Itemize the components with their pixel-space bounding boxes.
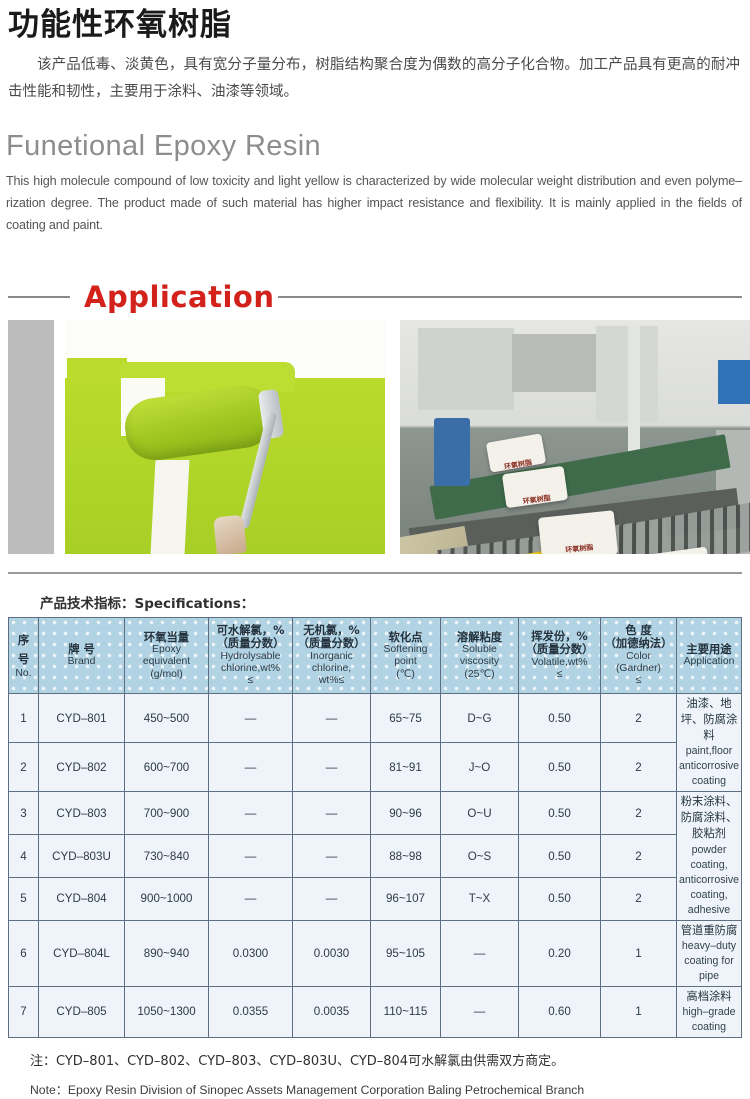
col-header-en: Color (Gardner) ≤: [602, 651, 675, 688]
cell-application: 油漆、地坪、防腐涂料paint,floor anticorrosive coat…: [677, 694, 742, 792]
application-en: heavy–duty coating for pipe: [679, 939, 739, 984]
cell-viscosity: J~O: [441, 743, 519, 792]
factory-conveyor-photo: 环氧树脂 环氧树脂 环氧树脂 环氧树脂: [400, 320, 750, 554]
col-header-cn: 可水解氯，% （质量分数）: [210, 624, 291, 651]
cell-epoxy: 730~840: [125, 835, 209, 878]
spec-table-label: 产品技术指标：Specifications：: [40, 592, 750, 612]
cell-brand: CYD–802: [39, 743, 125, 792]
cell-viscosity: O~U: [441, 792, 519, 835]
application-heading: Application: [70, 283, 278, 312]
cell-hydrolysable: —: [209, 835, 293, 878]
cell-hydrolysable: 0.0300: [209, 920, 293, 986]
col-header-cn: 挥发份，% （质量分数）: [520, 630, 599, 657]
cell-inorganic: —: [293, 694, 371, 743]
rule-left: [8, 296, 70, 298]
col-header-3: 可水解氯，% （质量分数）Hydrolysable chlorine,wt% ≤: [209, 618, 293, 694]
cell-softening: 95~105: [371, 920, 441, 986]
col-header-cn: 主要用途: [678, 643, 740, 656]
gray-accent-bar: [8, 320, 54, 554]
application-cn: 粉末涂料、防腐涂料、 胶粘剂: [679, 794, 739, 842]
application-cn: 油漆、地坪、防腐涂料: [679, 696, 739, 744]
rule-right: [278, 296, 742, 298]
cell-application: 高档涂料high–grade coating: [677, 986, 742, 1037]
cell-epoxy: 900~1000: [125, 877, 209, 920]
note-en: Note：Epoxy Resin Division of Sinopec Ass…: [30, 1081, 742, 1099]
col-header-en: Application: [678, 656, 740, 668]
col-header-cn: 序 号: [18, 634, 29, 666]
specifications-table: 序 号No.牌 号Brand环氧当量Epoxy equivalent (g/mo…: [8, 617, 742, 1038]
cell-epoxy: 1050~1300: [125, 986, 209, 1037]
cell-brand: CYD–803: [39, 792, 125, 835]
cell-softening: 65~75: [371, 694, 441, 743]
cell-color: 2: [601, 877, 677, 920]
cell-volatile: 0.50: [519, 792, 601, 835]
cell-inorganic: 0.0035: [293, 986, 371, 1037]
col-header-cn: 牌 号: [40, 643, 123, 656]
col-header-en: Inorganic chlorine, wt%≤: [294, 651, 369, 688]
note-cn: 注：CYD–801、CYD–802、CYD–803、CYD–803U、CYD–8…: [30, 1052, 742, 1073]
cell-epoxy: 600~700: [125, 743, 209, 792]
section-divider: [8, 572, 742, 574]
cell-viscosity: —: [441, 986, 519, 1037]
cell-hydrolysable: 0.0355: [209, 986, 293, 1037]
intro-paragraph-cn: 该产品低毒、淡黄色，具有宽分子量分布，树脂结构聚合度为偶数的高分子化合物。加工产…: [8, 52, 740, 106]
cell-application: 粉末涂料、防腐涂料、 胶粘剂powder coating, anticorros…: [677, 792, 742, 920]
cell-viscosity: T~X: [441, 877, 519, 920]
cell-viscosity: —: [441, 920, 519, 986]
col-header-cn: 无机氯，% （质量分数）: [294, 624, 369, 651]
cell-softening: 88~98: [371, 835, 441, 878]
cell-no: 4: [9, 835, 39, 878]
table-row: 3CYD–803700~900——90~96O~U0.502粉末涂料、防腐涂料、…: [9, 792, 742, 835]
page-title-cn: 功能性环氧树脂: [8, 6, 750, 45]
table-notes: 注：CYD–801、CYD–802、CYD–803、CYD–803U、CYD–8…: [8, 1052, 742, 1099]
product-datasheet-page: 功能性环氧树脂 该产品低毒、淡黄色，具有宽分子量分布，树脂结构聚合度为偶数的高分…: [0, 6, 750, 1030]
application-heading-band: Application: [0, 280, 750, 314]
col-header-en: No.: [10, 668, 37, 680]
cell-softening: 96~107: [371, 877, 441, 920]
application-en: powder coating, anticorrosive coating, a…: [679, 843, 739, 918]
table-row: 4CYD–803U730~840——88~98O~S0.502: [9, 835, 742, 878]
cell-color: 2: [601, 694, 677, 743]
table-header-row: 序 号No.牌 号Brand环氧当量Epoxy equivalent (g/mo…: [9, 618, 742, 694]
cell-no: 2: [9, 743, 39, 792]
cell-hydrolysable: —: [209, 792, 293, 835]
col-header-5: 软化点Softening point (℃): [371, 618, 441, 694]
cell-volatile: 0.50: [519, 877, 601, 920]
cell-no: 3: [9, 792, 39, 835]
cell-epoxy: 450~500: [125, 694, 209, 743]
cell-softening: 90~96: [371, 792, 441, 835]
intro-paragraph-en: This high molecule compound of low toxic…: [6, 171, 742, 236]
application-cn: 管道重防腐: [679, 923, 739, 939]
col-header-4: 无机氯，% （质量分数）Inorganic chlorine, wt%≤: [293, 618, 371, 694]
table-row: 2CYD–802600~700——81~91J~O0.502: [9, 743, 742, 792]
cell-no: 7: [9, 986, 39, 1037]
cell-inorganic: —: [293, 835, 371, 878]
cell-color: 1: [601, 986, 677, 1037]
application-en: paint,floor anticorrosive coating: [679, 744, 739, 789]
cell-brand: CYD–803U: [39, 835, 125, 878]
col-header-8: 色 度 （加德纳法）Color (Gardner) ≤: [601, 618, 677, 694]
col-header-0: 序 号No.: [9, 618, 39, 694]
col-header-cn: 软化点: [372, 631, 439, 644]
table-row: 1CYD–801450~500——65~75D~G0.502油漆、地坪、防腐涂料…: [9, 694, 742, 743]
cell-softening: 81~91: [371, 743, 441, 792]
cell-color: 2: [601, 835, 677, 878]
cell-hydrolysable: —: [209, 743, 293, 792]
col-header-cn: 色 度 （加德纳法）: [602, 624, 675, 651]
cell-hydrolysable: —: [209, 877, 293, 920]
col-header-en: Soluble viscosity (25℃): [442, 644, 517, 681]
cell-epoxy: 890~940: [125, 920, 209, 986]
table-header: 序 号No.牌 号Brand环氧当量Epoxy equivalent (g/mo…: [9, 618, 742, 694]
col-header-9: 主要用途Application: [677, 618, 742, 694]
col-header-en: Brand: [40, 656, 123, 668]
cell-viscosity: D~G: [441, 694, 519, 743]
cell-volatile: 0.20: [519, 920, 601, 986]
col-header-en: Softening point (℃): [372, 644, 439, 681]
cell-brand: CYD–805: [39, 986, 125, 1037]
cell-brand: CYD–801: [39, 694, 125, 743]
paint-roller-photo: [65, 320, 385, 554]
cell-inorganic: —: [293, 792, 371, 835]
cell-brand: CYD–804L: [39, 920, 125, 986]
col-header-en: Epoxy equivalent (g/mol): [126, 644, 207, 681]
col-header-en: Volatile,wt% ≤: [520, 657, 599, 682]
cell-no: 5: [9, 877, 39, 920]
cell-volatile: 0.50: [519, 835, 601, 878]
table-row: 6CYD–804L890~9400.03000.003095~105—0.201…: [9, 920, 742, 986]
cell-brand: CYD–804: [39, 877, 125, 920]
cell-volatile: 0.50: [519, 694, 601, 743]
col-header-7: 挥发份，% （质量分数）Volatile,wt% ≤: [519, 618, 601, 694]
col-header-1: 牌 号Brand: [39, 618, 125, 694]
cell-color: 1: [601, 920, 677, 986]
col-header-6: 溶解粘度Soluble viscosity (25℃): [441, 618, 519, 694]
col-header-en: Hydrolysable chlorine,wt% ≤: [210, 651, 291, 688]
cell-no: 1: [9, 694, 39, 743]
application-en: high–grade coating: [679, 1005, 739, 1035]
cell-softening: 110~115: [371, 986, 441, 1037]
table-body: 1CYD–801450~500——65~75D~G0.502油漆、地坪、防腐涂料…: [9, 694, 742, 1038]
cell-viscosity: O~S: [441, 835, 519, 878]
application-images: 环氧树脂 环氧树脂 环氧树脂 环氧树脂: [0, 320, 750, 558]
cell-epoxy: 700~900: [125, 792, 209, 835]
cell-application: 管道重防腐heavy–duty coating for pipe: [677, 920, 742, 986]
col-header-cn: 溶解粘度: [442, 631, 517, 644]
cell-volatile: 0.60: [519, 986, 601, 1037]
col-header-2: 环氧当量Epoxy equivalent (g/mol): [125, 618, 209, 694]
cell-inorganic: —: [293, 743, 371, 792]
cell-no: 6: [9, 920, 39, 986]
page-title-en: Funetional Epoxy Resin: [6, 131, 750, 163]
cell-color: 2: [601, 743, 677, 792]
application-cn: 高档涂料: [679, 989, 739, 1005]
cell-inorganic: —: [293, 877, 371, 920]
table-row: 5CYD–804900~1000——96~107T~X0.502: [9, 877, 742, 920]
col-header-cn: 环氧当量: [126, 631, 207, 644]
cell-volatile: 0.50: [519, 743, 601, 792]
cell-hydrolysable: —: [209, 694, 293, 743]
table-row: 7CYD–8051050~13000.03550.0035110~115—0.6…: [9, 986, 742, 1037]
cell-color: 2: [601, 792, 677, 835]
cell-inorganic: 0.0030: [293, 920, 371, 986]
